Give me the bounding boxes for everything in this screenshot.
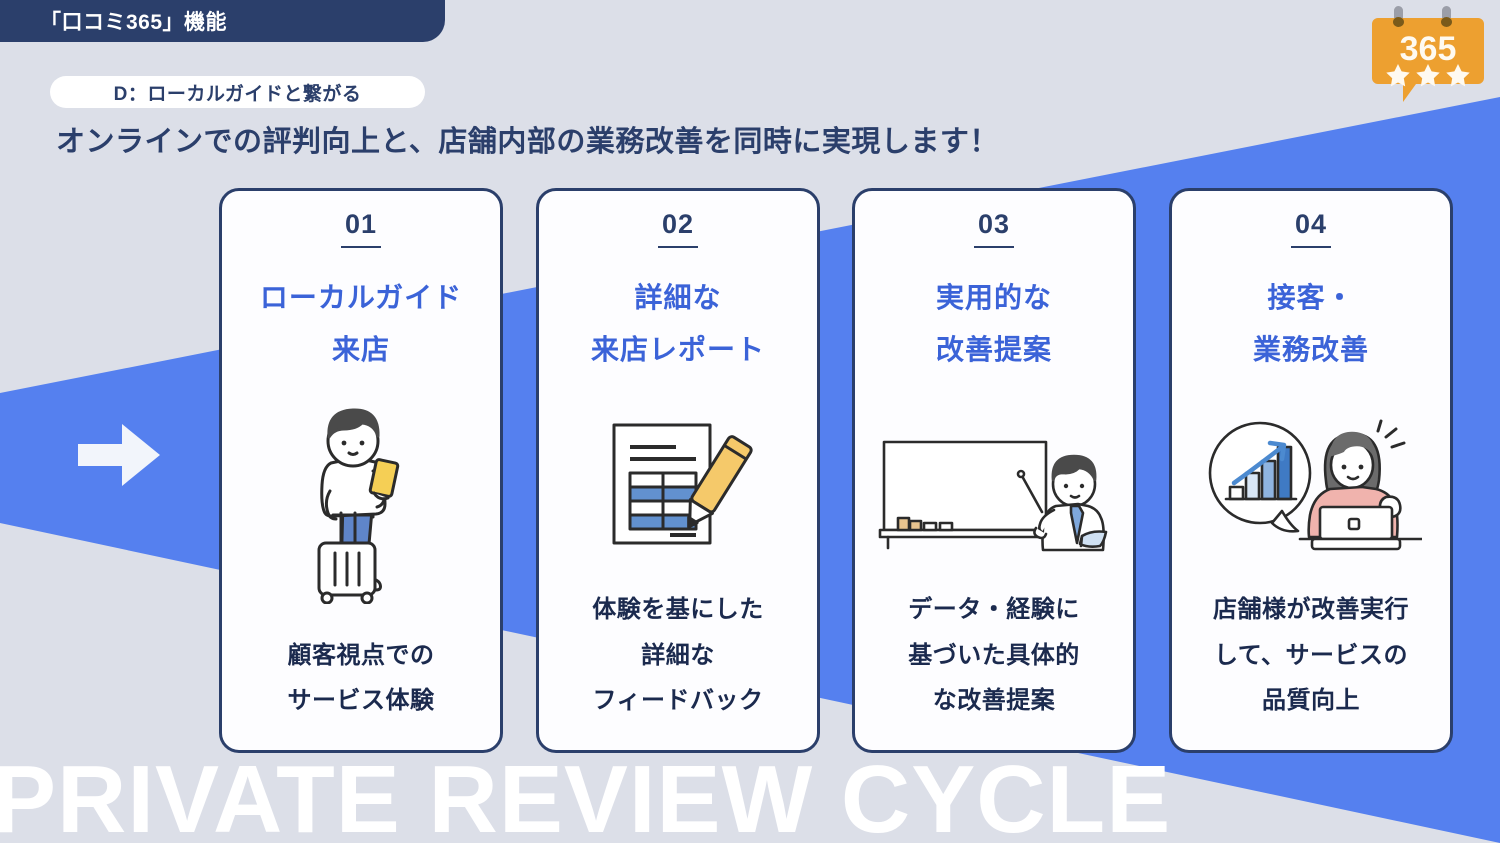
card-illustration-area xyxy=(1172,390,1450,588)
card-illustration-area xyxy=(539,380,817,588)
card-title-line: 詳細な xyxy=(591,272,765,324)
card-desc-line: 体験を基にした xyxy=(592,587,764,633)
card-title-line: 実用的な xyxy=(936,272,1052,324)
card-number: 03 xyxy=(978,209,1010,240)
card-desc-line: な改善提案 xyxy=(908,678,1080,724)
feature-card-01[interactable]: 01 ローカルガイド 来店 xyxy=(219,188,503,753)
card-title-line: 来店 xyxy=(260,324,462,376)
card-title-line: 改善提案 xyxy=(936,324,1052,376)
svg-text:365: 365 xyxy=(1400,30,1457,68)
card-number: 02 xyxy=(662,209,694,240)
traveler-with-suitcase-icon xyxy=(283,399,439,604)
right-arrow-icon xyxy=(78,424,160,486)
presenter-at-whiteboard-icon xyxy=(876,436,1112,554)
card-divider xyxy=(974,246,1014,248)
section-pill-label: D：ローカルガイドと繋がる xyxy=(114,79,362,106)
section-pill: D：ローカルガイドと繋がる xyxy=(50,76,425,108)
feature-card-02[interactable]: 02 詳細な 来店レポート xyxy=(536,188,820,753)
card-number: 04 xyxy=(1295,209,1327,240)
card-desc-line: データ・経験に xyxy=(908,587,1080,633)
header-tab: 「口コミ365」機能 xyxy=(0,0,445,42)
card-title-line: 来店レポート xyxy=(591,324,765,376)
card-divider xyxy=(1291,246,1331,248)
card-desc-line: 詳細な xyxy=(592,633,764,679)
card-title-line: 接客・ xyxy=(1253,272,1369,324)
feature-card-03[interactable]: 03 実用的な 改善提案 xyxy=(852,188,1136,753)
card-title: 接客・ 業務改善 xyxy=(1253,272,1369,376)
card-title-line: ローカルガイド xyxy=(260,272,462,324)
slide-subtitle: オンラインでの評判向上と、店舗内部の業務改善を同時に実現します！ xyxy=(56,118,999,160)
card-desc-line: して、サービスの xyxy=(1213,633,1409,679)
card-title-line: 業務改善 xyxy=(1253,324,1369,376)
card-number: 01 xyxy=(345,209,377,240)
card-title: 詳細な 来店レポート xyxy=(591,272,765,376)
ghost-headline: PRIVATE REVIEW CYCLE xyxy=(0,752,1171,843)
card-title: 実用的な 改善提案 xyxy=(936,272,1052,376)
header-tab-label: 「口コミ365」機能 xyxy=(40,6,227,36)
card-desc-line: 基づいた具体的 xyxy=(908,633,1080,679)
card-description: 店舗様が改善実行 して、サービスの 品質向上 xyxy=(1205,587,1417,724)
slide-root: PRIVATE REVIEW CYCLE 「口コミ365」機能 D：ローカルガイ… xyxy=(0,0,1500,843)
card-description: 体験を基にした 詳細な フィードバック xyxy=(584,587,772,724)
card-desc-line: 店舗様が改善実行 xyxy=(1213,587,1409,633)
card-title: ローカルガイド 来店 xyxy=(260,272,462,376)
card-desc-line: 顧客視点での xyxy=(288,633,435,679)
review-365-badge-icon: 365 xyxy=(1372,2,1484,102)
woman-at-laptop-with-growth-chart-icon xyxy=(1200,415,1422,561)
feature-card-04[interactable]: 04 接客・ 業務改善 xyxy=(1169,188,1453,753)
card-desc-line: フィードバック xyxy=(592,678,764,724)
card-illustration-area xyxy=(855,404,1133,588)
card-illustration-area xyxy=(222,370,500,633)
report-document-with-pen-icon xyxy=(598,411,758,556)
card-description: データ・経験に 基づいた具体的 な改善提案 xyxy=(900,587,1088,724)
card-description: 顧客視点での サービス体験 xyxy=(280,633,443,724)
card-divider xyxy=(658,246,698,248)
card-desc-line: 品質向上 xyxy=(1213,678,1409,724)
card-divider xyxy=(341,246,381,248)
card-desc-line: サービス体験 xyxy=(288,678,435,724)
